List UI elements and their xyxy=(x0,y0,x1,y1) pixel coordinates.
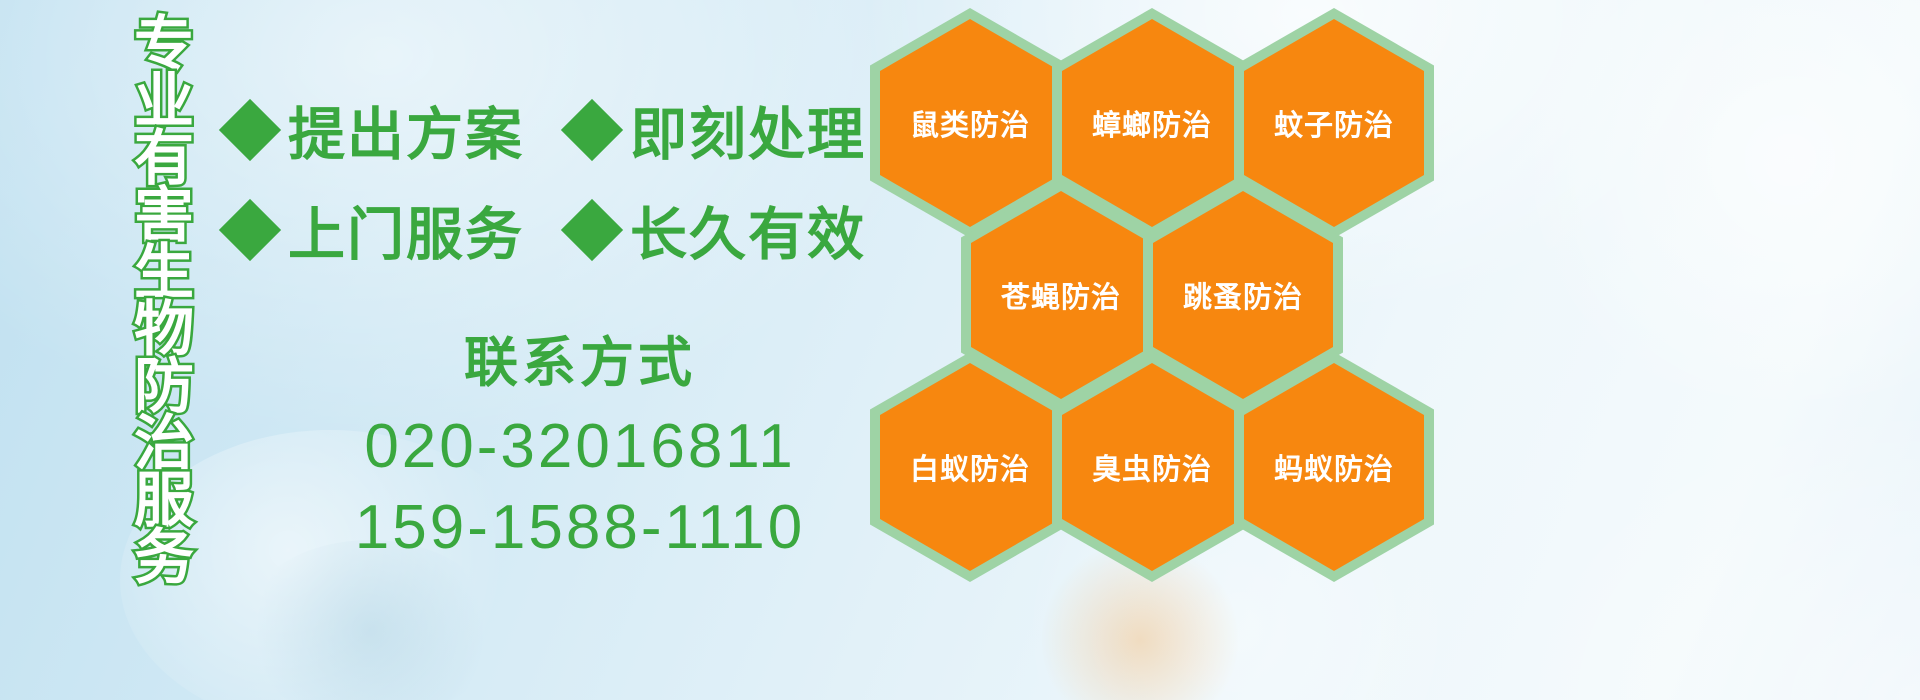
feature-item-propose-plan: 提出方案 xyxy=(228,89,524,171)
vertical-headline-char: 物 xyxy=(134,301,194,358)
contact-phone-landline[interactable]: 020-32016811 xyxy=(300,411,860,482)
vertical-headline-char: 业 xyxy=(134,73,194,130)
diamond-icon xyxy=(561,199,623,261)
feature-item-immediate-handling: 即刻处理 xyxy=(570,89,866,171)
vertical-headline-char: 务 xyxy=(134,529,194,586)
vertical-headline-char: 生 xyxy=(134,244,194,301)
contact-title: 联系方式 xyxy=(300,318,860,397)
hex-fill: 蚊子防治 xyxy=(1244,19,1424,227)
feature-label: 长久有效 xyxy=(630,189,866,271)
hex-fill: 苍蝇防治 xyxy=(971,191,1151,399)
service-hex-label: 苍蝇防治 xyxy=(1001,274,1121,316)
hex-fill: 跳蚤防治 xyxy=(1153,191,1333,399)
contact-block: 联系方式 020-32016811 159-1588-1110 xyxy=(300,318,860,563)
vertical-headline-char: 专 xyxy=(134,16,194,73)
service-hex-label: 臭虫防治 xyxy=(1092,446,1212,488)
hex-fill: 蟑螂防治 xyxy=(1062,19,1242,227)
feature-item-onsite-service: 上门服务 xyxy=(228,189,524,271)
vertical-headline: 专 业 有 害 生 物 防 治 服 务 xyxy=(112,16,216,556)
vertical-headline-char: 防 xyxy=(134,358,194,415)
contact-phone-mobile[interactable]: 159-1588-1110 xyxy=(300,492,860,563)
service-hex-label: 蚊子防治 xyxy=(1274,102,1394,144)
hex-fill: 鼠类防治 xyxy=(880,19,1060,227)
service-hex-label: 白蚁防治 xyxy=(910,446,1030,488)
background-glow-right xyxy=(1480,0,1920,400)
feature-row: 提出方案 即刻处理 xyxy=(228,80,868,180)
background-blur-bottom-left xyxy=(240,540,500,700)
service-hex-label: 蟑螂防治 xyxy=(1092,102,1212,144)
vertical-headline-char: 害 xyxy=(134,187,194,244)
vertical-headline-char: 有 xyxy=(134,130,194,187)
feature-label: 上门服务 xyxy=(288,189,524,271)
feature-label: 即刻处理 xyxy=(630,89,866,171)
diamond-icon xyxy=(219,199,281,261)
diamond-icon xyxy=(561,99,623,161)
hex-fill: 蚂蚁防治 xyxy=(1244,363,1424,571)
promo-banner: 专 业 有 害 生 物 防 治 服 务 提出方案 即刻处理 上门服务 xyxy=(0,0,1920,700)
service-hex-label: 跳蚤防治 xyxy=(1183,274,1303,316)
vertical-headline-char: 服 xyxy=(134,472,194,529)
service-hexagon-grid: 鼠类防治 蟑螂防治 蚊子防治 苍蝇防治 跳蚤防治 白蚁防治 xyxy=(862,0,1482,580)
feature-item-long-lasting: 长久有效 xyxy=(570,189,866,271)
diamond-icon xyxy=(219,99,281,161)
feature-row: 上门服务 长久有效 xyxy=(228,180,868,280)
hex-fill: 臭虫防治 xyxy=(1062,363,1242,571)
service-hex-label: 鼠类防治 xyxy=(910,102,1030,144)
hex-fill: 白蚁防治 xyxy=(880,363,1060,571)
vertical-headline-char: 治 xyxy=(134,415,194,472)
feature-list: 提出方案 即刻处理 上门服务 长久有效 xyxy=(228,80,868,280)
feature-label: 提出方案 xyxy=(288,89,524,171)
service-hex-label: 蚂蚁防治 xyxy=(1274,446,1394,488)
